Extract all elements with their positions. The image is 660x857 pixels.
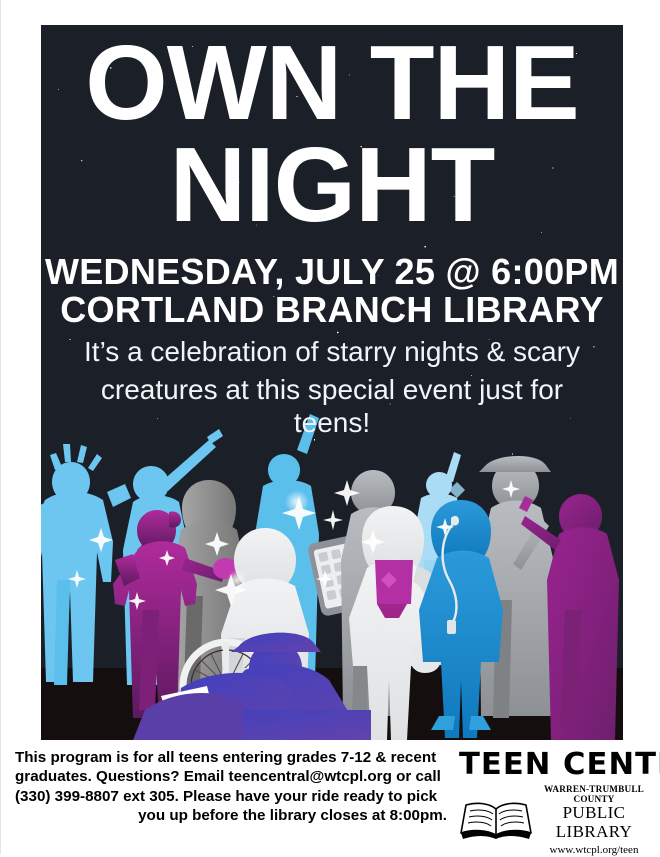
library-county-line: WARREN-TRUMBULL COUNTY — [539, 784, 649, 804]
poster-page: OWN THE NIGHT WEDNESDAY, JULY 25 @ 6:00P… — [0, 0, 660, 854]
event-poster: OWN THE NIGHT WEDNESDAY, JULY 25 @ 6:00P… — [41, 25, 623, 740]
open-book-icon — [459, 800, 533, 840]
library-logo-row: WARREN-TRUMBULL COUNTY PUBLIC LIBRARY ww… — [459, 784, 649, 857]
footer-line-1: This program is for all teens entering g… — [15, 748, 447, 767]
footer-line-4: you up before the library closes at 8:00… — [15, 806, 447, 825]
poster-footer: This program is for all teens entering g… — [1, 748, 660, 838]
footer-line-3: (330) 399-8807 ext 305. Please have your… — [15, 787, 447, 806]
event-location: CORTLAND BRANCH LIBRARY — [41, 291, 623, 330]
poster-headline: OWN THE NIGHT — [41, 25, 623, 237]
headline-line-1: OWN THE — [85, 25, 579, 142]
event-tagline-line-2: creatures at this special event just for… — [41, 374, 623, 438]
event-datetime: WEDNESDAY, JULY 25 @ 6:00PM — [41, 253, 623, 292]
teen-central-wordmark: TEEN CENTRAL — [459, 750, 653, 780]
teen-silhouette-crowd — [41, 410, 623, 740]
library-url: www.wtcpl.org/teen — [539, 843, 649, 857]
library-name-block: WARREN-TRUMBULL COUNTY PUBLIC LIBRARY ww… — [539, 784, 649, 857]
footer-info-text: This program is for all teens entering g… — [15, 748, 447, 826]
footer-line-2: graduates. Questions? Email teencentral@… — [15, 767, 447, 786]
teen-central-logo: TEEN CENTRAL WARREN-TRUMBULL COUNTY PUBL… — [459, 750, 649, 857]
headline-line-2: NIGHT — [41, 135, 623, 237]
event-tagline-line-1: It’s a celebration of starry nights & sc… — [41, 336, 623, 368]
library-name-line: PUBLIC LIBRARY — [539, 804, 649, 841]
poster-text-block: OWN THE NIGHT WEDNESDAY, JULY 25 @ 6:00P… — [41, 25, 623, 439]
